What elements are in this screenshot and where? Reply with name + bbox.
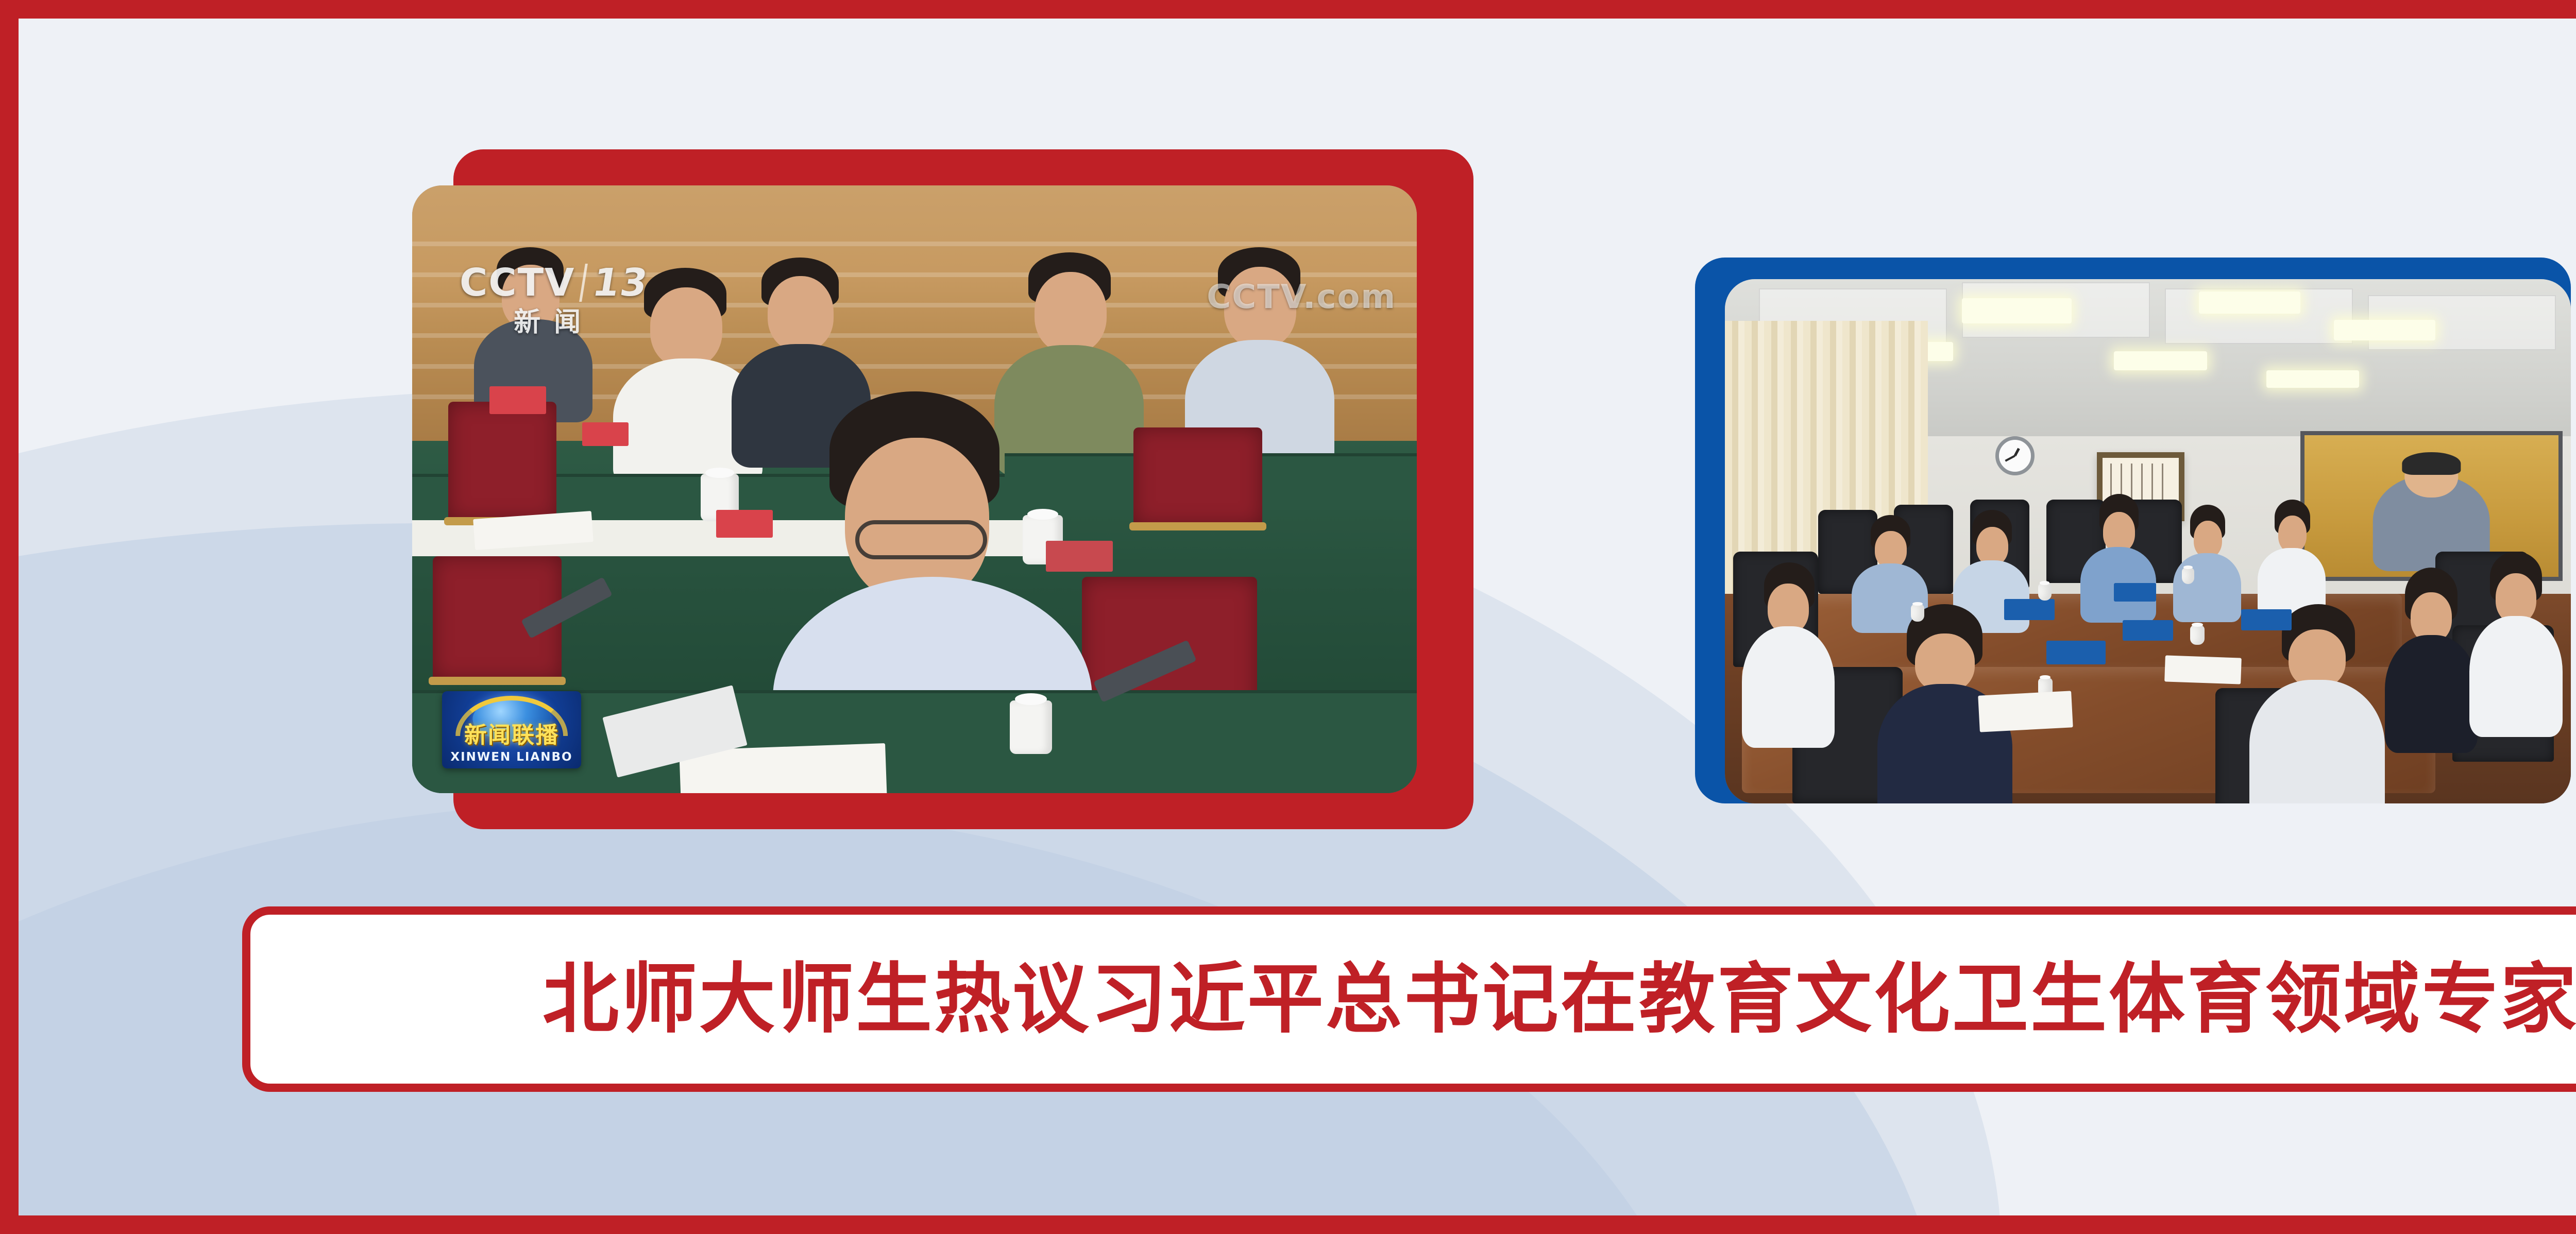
xinwen-lianbo-logo: 新闻联播 XINWEN LIANBO [442, 691, 581, 768]
xinwen-lianbo-en: XINWEN LIANBO [450, 750, 572, 764]
photo-image-cctv-broadcast: CCTV 13 新闻 CCTV.com 新闻联播 XINWEN LIANBO [412, 185, 1417, 793]
banner-title-text: 北师大师生热议习近平总书记在教育文化卫生体育领域专家代表座谈会上的重要讲话 [543, 961, 2576, 1037]
banner-root: CCTV 13 新闻 CCTV.com 新闻联播 XINWEN LIANBO [0, 0, 2576, 1234]
photo-card-cctv-broadcast[interactable]: CCTV 13 新闻 CCTV.com 新闻联播 XINWEN LIANBO [412, 149, 1473, 829]
xinwen-lianbo-cn: 新闻联播 [464, 716, 559, 749]
cctv-corner-watermark: CCTV.com [1207, 278, 1396, 316]
scene-person [2385, 568, 2478, 746]
cctv-channel-number: 13 [580, 264, 652, 302]
scene-person [2258, 500, 2325, 615]
photo-card-meeting-room-1[interactable] [1695, 258, 2576, 814]
scene-person [2469, 552, 2563, 730]
cctv-brand-text: CCTV [460, 264, 575, 302]
scene-person [2173, 505, 2241, 620]
title-banner: 北师大师生热议习近平总书记在教育文化卫生体育领域专家代表座谈会上的重要讲话 [242, 906, 2576, 1092]
cctv-channel-name: 新闻 [460, 309, 648, 336]
photo-image-meeting-room-1 [1725, 279, 2571, 803]
scene-person [1742, 562, 1835, 741]
scene-person [2249, 604, 2385, 803]
cctv-channel-watermark: CCTV 13 新闻 [460, 264, 648, 336]
